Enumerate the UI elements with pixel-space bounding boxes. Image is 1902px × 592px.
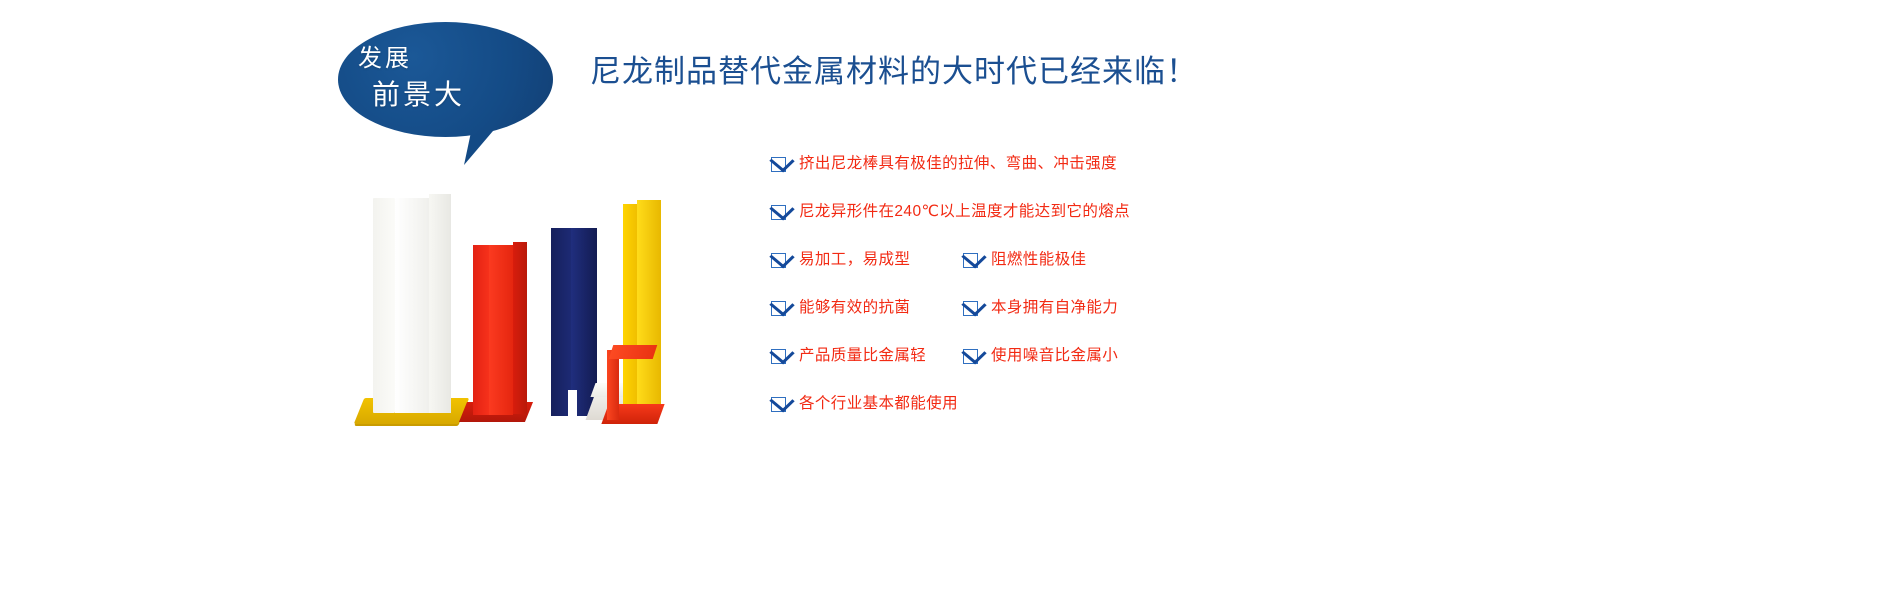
feature-row: 产品质量比金属轻 使用噪音比金属小 <box>771 347 1471 395</box>
checkbox-checked-icon <box>963 349 978 364</box>
feature-label: 使用噪音比金属小 <box>991 347 1118 365</box>
feature-label: 尼龙异形件在240℃以上温度才能达到它的熔点 <box>799 203 1130 221</box>
checkbox-checked-icon <box>771 205 786 220</box>
feature-label: 本身拥有自净能力 <box>991 299 1118 317</box>
checkbox-checked-icon <box>771 397 786 412</box>
feature-row: 能够有效的抗菌 本身拥有自净能力 <box>771 299 1471 347</box>
red-u-channel-web <box>489 245 513 415</box>
white-u-channel-web <box>395 198 429 413</box>
feature-label: 易加工，易成型 <box>799 251 910 269</box>
orange-red-angle-flange <box>609 345 658 359</box>
feature-item: 挤出尼龙棒具有极佳的拉伸、弯曲、冲击强度 <box>771 155 1117 173</box>
feature-item: 易加工，易成型 <box>771 251 910 269</box>
feature-row: 挤出尼龙棒具有极佳的拉伸、弯曲、冲击强度 <box>771 155 1471 203</box>
feature-row: 各个行业基本都能使用 <box>771 395 1471 443</box>
checkbox-checked-icon <box>771 157 786 172</box>
white-u-channel-right-wall <box>429 194 451 413</box>
yellow-tall-bar-right <box>637 200 661 409</box>
checkbox-checked-icon <box>963 301 978 316</box>
checkbox-checked-icon <box>771 301 786 316</box>
feature-item: 产品质量比金属轻 <box>771 347 926 365</box>
feature-row: 易加工，易成型 阻燃性能极佳 <box>771 251 1471 299</box>
white-u-channel-left-wall <box>373 198 395 413</box>
speech-bubble-line-2: 前景大 <box>372 78 542 112</box>
orange-red-angle-web <box>607 350 619 420</box>
feature-item: 各个行业基本都能使用 <box>771 395 958 413</box>
page-title: 尼龙制品替代金属材料的大时代已经来临！ <box>590 52 1198 92</box>
checkbox-checked-icon <box>771 349 786 364</box>
feature-item: 本身拥有自净能力 <box>963 299 1118 317</box>
feature-label: 产品质量比金属轻 <box>799 347 926 365</box>
feature-row: 尼龙异形件在240℃以上温度才能达到它的熔点 <box>771 203 1471 251</box>
feature-label: 各个行业基本都能使用 <box>799 395 958 413</box>
feature-label: 能够有效的抗菌 <box>799 299 910 317</box>
feature-item: 使用噪音比金属小 <box>963 347 1118 365</box>
product-image <box>355 190 695 455</box>
red-u-channel-right-wall <box>513 242 527 414</box>
speech-bubble-line-1: 发展 <box>358 44 478 74</box>
yellow-tall-bar-left <box>623 204 637 409</box>
feature-item: 能够有效的抗菌 <box>771 299 910 317</box>
speech-bubble: 发展 前景大 <box>338 22 553 154</box>
feature-label: 阻燃性能极佳 <box>991 251 1086 269</box>
navy-flat-bar-notch <box>568 390 577 418</box>
promo-banner: 发展 前景大 尼龙制品替代金属材料的大时代已经来临！ 挤出尼龙棒具有极佳的拉伸、 <box>0 0 1902 592</box>
navy-flat-bar-left <box>551 228 571 416</box>
feature-label: 挤出尼龙棒具有极佳的拉伸、弯曲、冲击强度 <box>799 155 1117 173</box>
red-u-channel-left-wall <box>473 245 489 415</box>
feature-item: 尼龙异形件在240℃以上温度才能达到它的熔点 <box>771 203 1130 221</box>
checkbox-checked-icon <box>963 253 978 268</box>
feature-list: 挤出尼龙棒具有极佳的拉伸、弯曲、冲击强度 尼龙异形件在240℃以上温度才能达到它… <box>771 155 1471 443</box>
checkbox-checked-icon <box>771 253 786 268</box>
feature-item: 阻燃性能极佳 <box>963 251 1086 269</box>
